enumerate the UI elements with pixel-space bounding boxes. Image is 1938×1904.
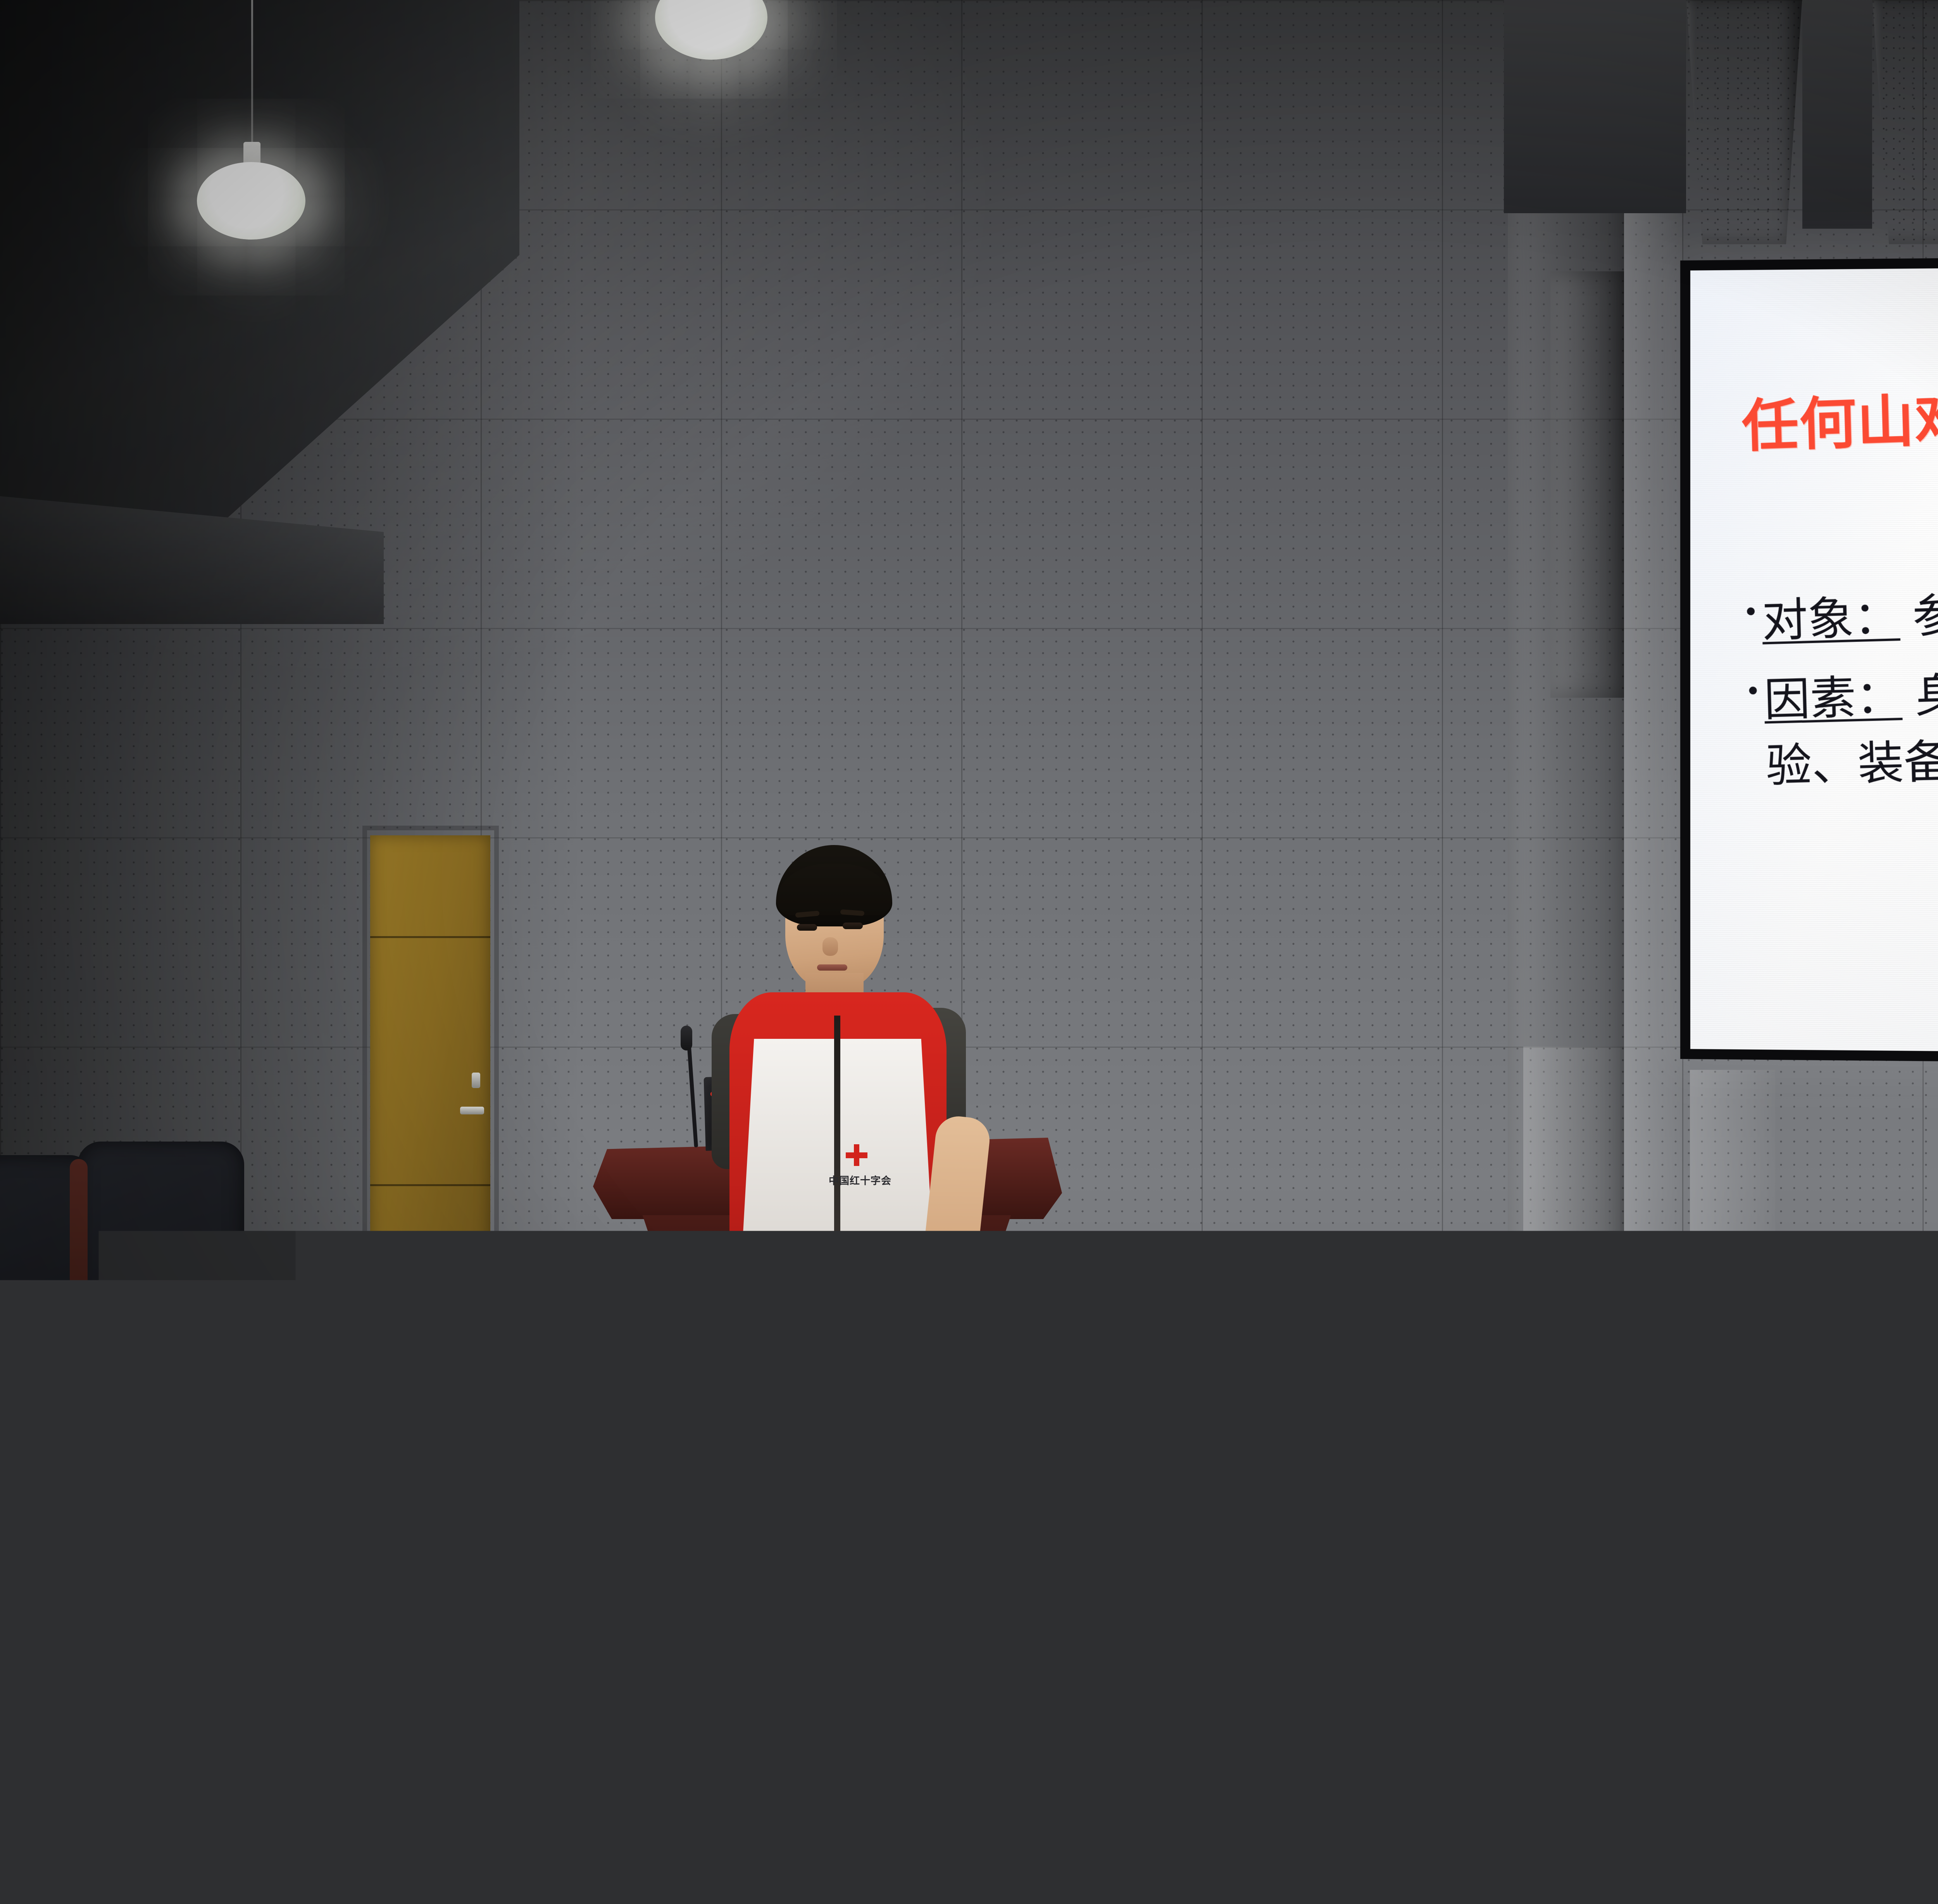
slide-bullet-text: 因素： 身体状况、心理状况、知识和技能状况、经验、装备、团队等 xyxy=(1763,639,1938,800)
slide-content: 任何山难都必有其人为原因。 －－莱因霍尔德·梅斯纳尔 对象： 参加者、组织者、团… xyxy=(1690,260,1938,1059)
wall-relief-highlight xyxy=(1523,1047,1620,1318)
ceiling-acoustic-baffles xyxy=(1504,0,1938,291)
lecture-hall-scene: 任何山难都必有其人为原因。 －－莱因霍尔德·梅斯纳尔 对象： 参加者、组织者、团… xyxy=(0,0,1938,1904)
slide-bullet-list: 对象： 参加者、组织者、团队 因素： 身体状况、心理状况、知识和技能状况、经验、… xyxy=(1747,558,1938,800)
side-door[interactable] xyxy=(370,835,490,1351)
wall-relief-highlight xyxy=(1690,1070,1775,1364)
pendant-light-cord xyxy=(251,0,253,147)
slide-title: 任何山难都必有其人为原因。 xyxy=(1741,361,1938,456)
presenter-eye xyxy=(843,923,863,929)
slide-bullet-item: 对象： 参加者、组织者、团队 xyxy=(1747,558,1938,655)
slide-bullet-rest: 参加者、组织者、团队 xyxy=(1899,578,1938,643)
microphone-head xyxy=(681,1026,692,1050)
slide-bullet-key: 对象： xyxy=(1761,592,1900,647)
red-cross-icon xyxy=(846,1144,867,1166)
slide-bullet-key: 因素： xyxy=(1764,671,1903,726)
door-lock-icon xyxy=(472,1073,480,1088)
bullet-dot-icon xyxy=(1747,607,1755,616)
wall-relief-column xyxy=(1550,271,1624,698)
presenter-vest-org-label: 中国红十字会 xyxy=(829,1173,891,1187)
presenter-nose xyxy=(822,937,838,956)
presenter-vest-zipper xyxy=(834,1016,840,1256)
presenter-mouth xyxy=(817,964,847,971)
projection-screen[interactable]: 任何山难都必有其人为原因。 －－莱因霍尔德·梅斯纳尔 对象： 参加者、组织者、团… xyxy=(1680,250,1938,1069)
door-panel-line xyxy=(370,936,490,938)
slide-bullet-item: 因素： 身体状况、心理状况、知识和技能状况、经验、装备、团队等 xyxy=(1748,639,1938,800)
projection-screen-surface: 任何山难都必有其人为原因。 －－莱因霍尔德·梅斯纳尔 对象： 参加者、组织者、团… xyxy=(1690,260,1938,1059)
ambient-shadow xyxy=(0,1323,1938,1904)
door-handle[interactable] xyxy=(460,1107,484,1114)
door-panel-line xyxy=(370,1184,490,1186)
pendant-light-bulb xyxy=(197,162,305,240)
presenter-eye xyxy=(797,924,817,931)
bullet-dot-icon xyxy=(1749,686,1757,695)
slide-bullet-text: 对象： 参加者、组织者、团队 xyxy=(1761,558,1938,655)
